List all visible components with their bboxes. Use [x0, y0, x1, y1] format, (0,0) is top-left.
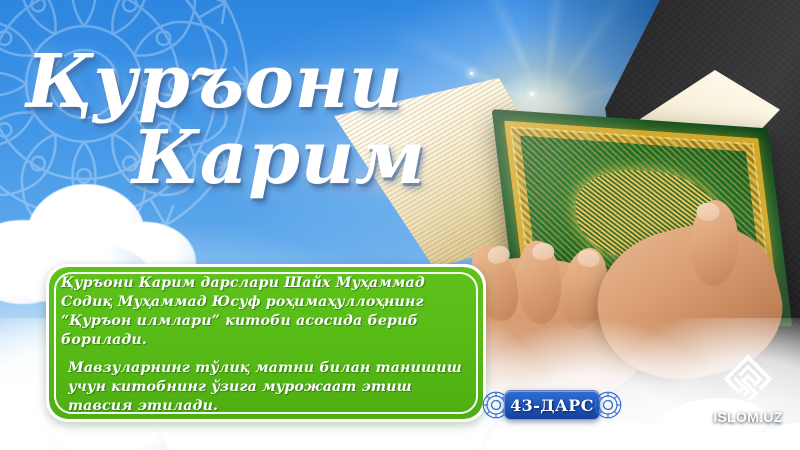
lesson-badge-label: 43-ДАРС — [510, 396, 594, 415]
kufic-calligraphy-icon — [721, 352, 775, 406]
mandala-floral-ornament-icon — [0, 0, 254, 264]
badge-plate[interactable]: 43-ДАРС — [504, 390, 600, 420]
panel-paragraph-1: Қуръони Карим дарслари Шайх Муҳаммад Сод… — [61, 274, 473, 350]
description-panel: Қуръони Карим дарслари Шайх Муҳаммад Сод… — [46, 264, 486, 422]
site-logo[interactable]: ISLOM.UZ — [705, 352, 791, 428]
site-logo-label: ISLOM.UZ — [705, 409, 791, 425]
quran-lesson-poster: Қуръони Карим Қуръони Карим дарслари Шай… — [0, 0, 800, 450]
panel-paragraph-2: Мавзуларнинг тўлиқ матни билан танишиш у… — [61, 359, 473, 416]
lesson-badge[interactable]: 43-ДАРС — [487, 388, 617, 422]
arabesque-medallion-icon — [593, 390, 623, 420]
panel-text-block: Қуръони Карим дарслари Шайх Муҳаммад Сод… — [61, 274, 473, 416]
